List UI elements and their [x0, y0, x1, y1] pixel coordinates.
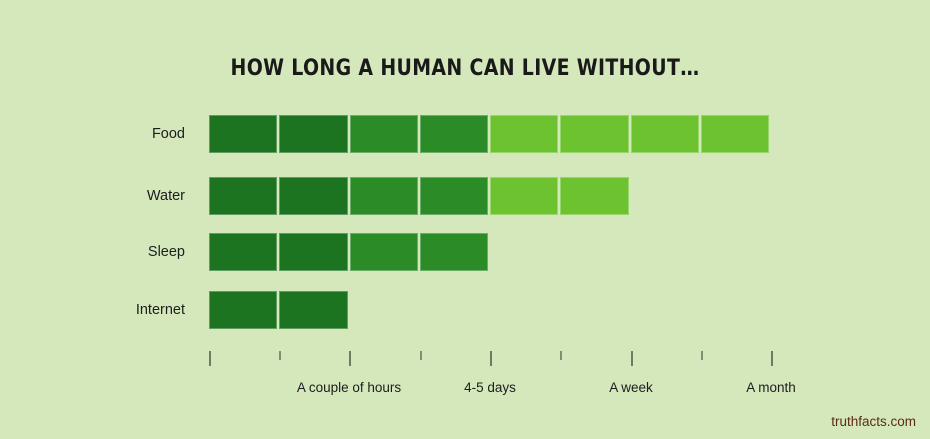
infographic-root: HOW LONG A HUMAN CAN LIVE WITHOUT… FoodW… — [0, 0, 930, 439]
axis-tick — [349, 351, 351, 366]
axis-tick — [701, 351, 703, 360]
axis-tick — [560, 351, 562, 360]
axis-tick — [490, 351, 492, 366]
axis-tick — [279, 351, 281, 360]
axis-tick-label: 4-5 days — [464, 380, 516, 395]
axis-tick — [420, 351, 422, 360]
chart-x-axis: A couple of hours4-5 daysA weekA month — [0, 0, 930, 439]
watermark: truthfacts.com — [831, 414, 916, 429]
axis-tick — [771, 351, 773, 366]
axis-tick-label: A couple of hours — [297, 380, 401, 395]
axis-tick-label: A week — [609, 380, 653, 395]
axis-tick — [631, 351, 633, 366]
axis-tick-label: A month — [746, 380, 796, 395]
axis-tick — [209, 351, 211, 366]
